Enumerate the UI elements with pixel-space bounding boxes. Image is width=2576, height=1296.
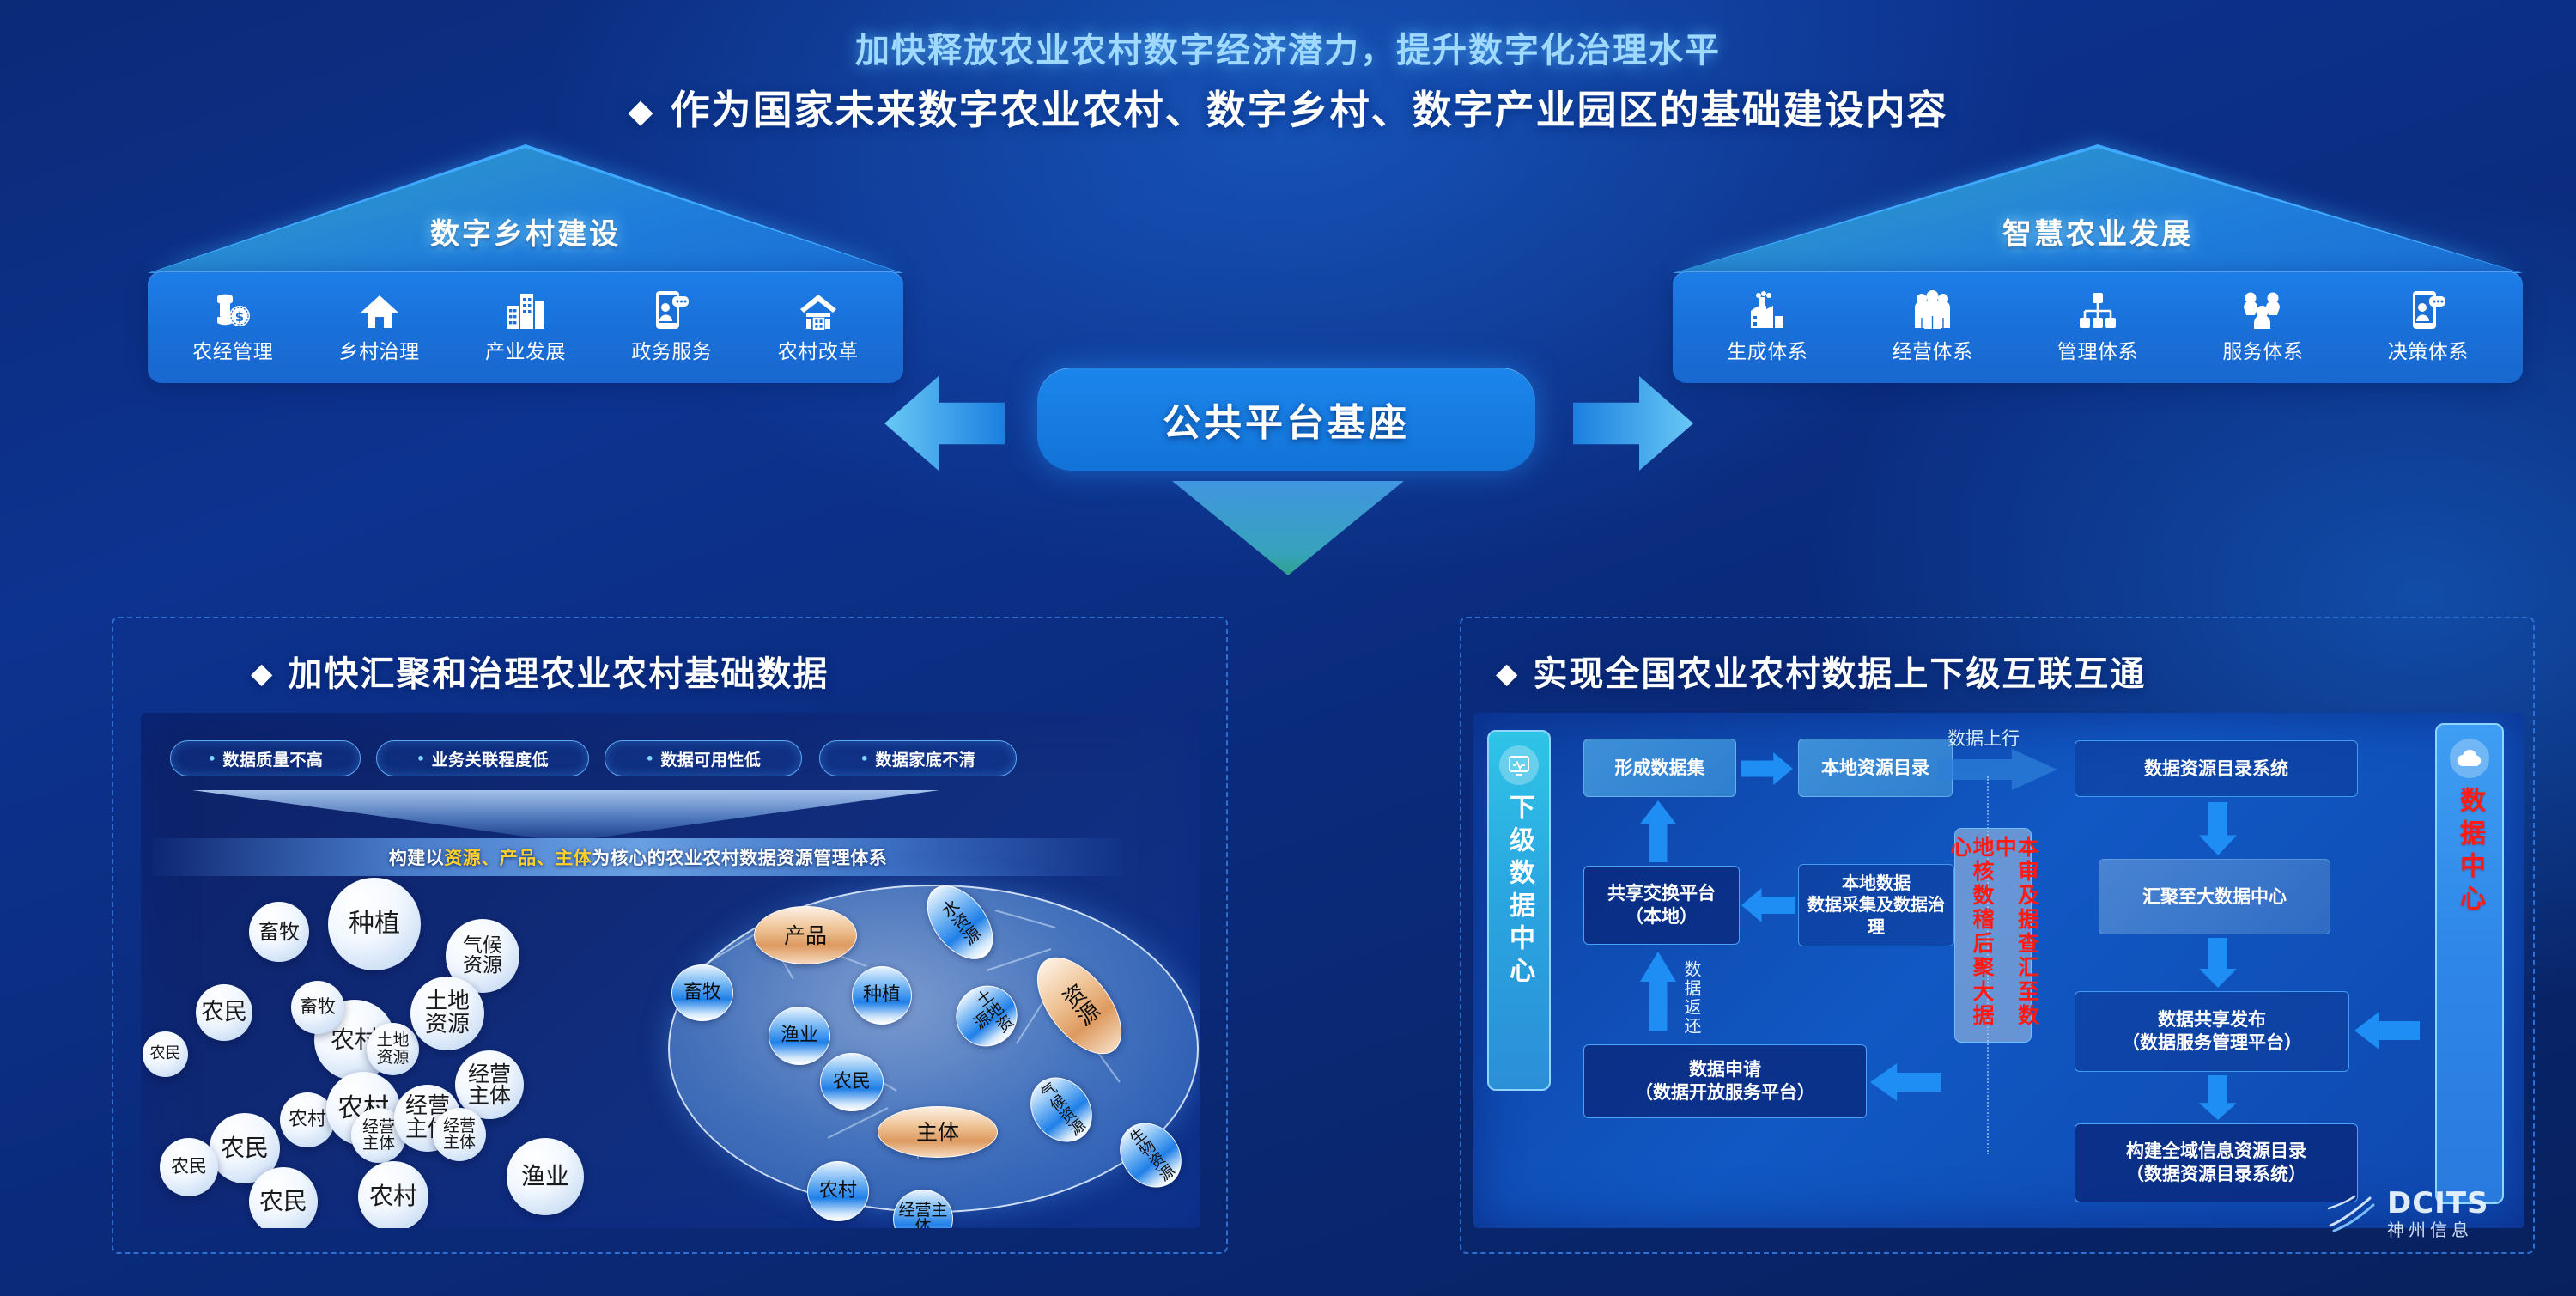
feature-政务服务[interactable]: 政务服务 (623, 290, 720, 364)
feature-乡村治理[interactable]: 乡村治理 (331, 290, 428, 364)
label-data-upstream: 数据上行 (1947, 725, 2020, 751)
data-node: 畜牧 (671, 964, 733, 1021)
box-data-apply[interactable]: 数据申请 （数据开放服务平台） (1583, 1044, 1867, 1118)
feature-管理体系[interactable]: 管理体系 (2050, 290, 2146, 364)
arrow-collect-to-share (1741, 888, 1795, 922)
dcits-swoosh-icon (2325, 1191, 2379, 1236)
box-gather-bigdata[interactable]: 汇聚至大数据中心 (2099, 859, 2330, 934)
funnel-shape (192, 790, 939, 840)
box-local-resource-dir[interactable]: 本地资源目录 (1798, 739, 1953, 797)
data-bubble: 农民 (160, 1138, 218, 1196)
dot-icon: • (416, 751, 426, 767)
left-panel-inner: •数据质量不高 •业务关联程度低 •数据可用性低 •数据家底不清 构建以资源、产… (141, 713, 1200, 1228)
cloud-icon (2450, 739, 2489, 778)
arrow-apply-to-share (1640, 952, 1676, 1031)
feature-经营体系[interactable]: 经营体系 (1885, 290, 1981, 364)
box-global-resource-dir[interactable]: 构建全域信息资源目录 （数据资源目录系统） (2075, 1123, 2358, 1202)
feature-label: 乡村治理 (339, 335, 420, 364)
right-house-card: 智慧农业发展 生成体系 (1673, 144, 2523, 383)
box-data-share-publish[interactable]: 数据共享发布 （数据服务管理平台） (2075, 991, 2349, 1072)
data-bubble: 农村 (358, 1161, 428, 1228)
core-banner: 构建以资源、产品、主体为核心的农业农村数据资源管理体系 (153, 838, 1123, 876)
feature-农村改革[interactable]: 农村改革 (770, 290, 866, 364)
page-title: 加快释放农业农村数字经济潜力，提升数字化治理水平 (0, 22, 2576, 72)
left-roof: 数字乡村建设 (148, 144, 903, 273)
feature-label: 决策体系 (2388, 335, 2469, 364)
diamond-bullet-icon: ◆ (251, 656, 274, 690)
feature-label: 服务体系 (2222, 335, 2303, 364)
feature-农经管理[interactable]: $ 农经管理 (185, 290, 281, 364)
feature-生成体系[interactable]: 生成体系 (1719, 290, 1815, 364)
org-chart-icon (2078, 290, 2117, 330)
right-panel-inner: 下级数据中心 数据中心 形成数据集 本地资源目录 共享交换平台 （本地） 本地数… (1473, 713, 2524, 1228)
data-node: 渔业 (769, 1007, 830, 1065)
left-panel-heading: ◆加快汇聚和治理农业农村基础数据 (251, 646, 829, 696)
arrow-dataset-to-dir (1741, 752, 1793, 785)
left-roof-label: 数字乡村建设 (148, 210, 903, 253)
feature-决策体系[interactable]: 决策体系 (2380, 290, 2476, 364)
core-node: 产品 (754, 906, 857, 964)
data-node: 农村 (807, 1161, 869, 1221)
monitor-pulse-icon (1499, 745, 1539, 785)
data-node: 农民 (820, 1053, 884, 1111)
dot-icon: • (646, 751, 655, 767)
brand-logo: DCITS 神州信息 (2325, 1189, 2489, 1238)
data-bubble: 农民 (143, 1031, 188, 1077)
data-bubble: 土地 资源 (367, 1023, 419, 1075)
data-bubble: 种植 (328, 878, 421, 970)
data-bubble: 畜牧 (291, 981, 344, 1034)
dot-icon: • (860, 751, 870, 767)
data-center-column[interactable]: 数据中心 (2435, 723, 2504, 1204)
data-node: 种植 (852, 966, 912, 1025)
feature-label: 经营体系 (1893, 335, 1973, 364)
arrow-center-to-apply (1870, 1063, 1941, 1101)
right-panel-heading-text: 实现全国农业农村数据上下级互联互通 (1533, 654, 2146, 694)
people-group-icon (1912, 290, 1953, 330)
house-icon (360, 290, 399, 330)
red-note-col-1: 地核数稽后聚大据心 (1948, 836, 1994, 1035)
box-local-data-collect[interactable]: 本地数据 数据采集及数据治理 (1798, 864, 1954, 946)
lower-data-center-label: 下级数据中心 (1500, 794, 1538, 989)
service-people-icon (2242, 290, 2283, 330)
right-roof: 智慧农业发展 (1673, 144, 2523, 273)
logo-text: DCITS 神州信息 (2387, 1189, 2489, 1238)
data-bubble: 农民 (249, 1167, 318, 1228)
feature-label: 政务服务 (631, 335, 712, 364)
diamond-bullet-icon: ◆ (1496, 656, 1519, 690)
data-bubble: 农民 (196, 984, 252, 1041)
logo-cn: 神州信息 (2387, 1221, 2489, 1238)
box-resource-dir-system[interactable]: 数据资源目录系统 (2075, 740, 2358, 797)
right-panel-heading: ◆实现全国农业农村数据上下级互联互通 (1496, 646, 2146, 696)
logo-en: DCITS (2387, 1189, 2489, 1218)
page-subtitle: ◆作为国家未来数字农业农村、数字乡村、数字产业园区的基础建设内容 (0, 79, 2576, 136)
svg-text:$: $ (235, 309, 244, 325)
arrow-down (1172, 481, 1404, 575)
red-note-col-2: 本审及据查汇至数中 (1993, 836, 2038, 1035)
box-form-dataset[interactable]: 形成数据集 (1583, 739, 1736, 797)
arrow-to-left (884, 376, 1005, 471)
center-platform-pill[interactable]: 公共平台基座 (1037, 368, 1535, 471)
arrow-gather-to-publish (2199, 938, 2237, 988)
right-feature-row: 生成体系 经营体系 (1673, 271, 2523, 383)
problem-pill[interactable]: •数据质量不高 (170, 740, 361, 776)
feature-产业发展[interactable]: 产业发展 (477, 290, 574, 364)
problem-pill[interactable]: •业务关联程度低 (376, 740, 589, 776)
problem-pill[interactable]: •数据家底不清 (819, 740, 1017, 776)
data-bubble: 土地 资源 (410, 977, 484, 1050)
problem-pill[interactable]: •数据可用性低 (605, 740, 802, 776)
mobile-decision-icon (2409, 290, 2447, 330)
buildings-icon (505, 290, 546, 330)
arrow-to-right (1573, 376, 1693, 471)
box-share-exchange[interactable]: 共享交换平台 （本地） (1583, 866, 1740, 945)
data-bubble: 畜牧 (249, 902, 309, 962)
slide-canvas: 加快释放农业农村数字经济潜力，提升数字化治理水平 ◆作为国家未来数字农业农村、数… (0, 0, 2576, 1296)
left-panel-heading-text: 加快汇聚和治理农业农村基础数据 (288, 654, 829, 694)
arrow-data-upstream (1937, 749, 2057, 790)
coins-money-icon: $ (212, 290, 253, 330)
feature-label: 生成体系 (1727, 335, 1807, 364)
right-roof-label: 智慧农业发展 (1673, 210, 2523, 253)
lower-data-center-column[interactable]: 下级数据中心 (1487, 730, 1551, 1091)
diamond-bullet-icon: ◆ (628, 92, 654, 130)
red-note-box: 地核数稽后聚大据心 本审及据查汇至数中 (1954, 828, 2032, 1043)
dot-icon: • (208, 751, 217, 767)
arrow-share-to-dataset (1640, 800, 1676, 862)
feature-label: 农经管理 (192, 335, 273, 364)
arrow-dir-to-gather (2199, 802, 2237, 855)
feature-label: 农村改革 (778, 335, 859, 364)
core-node: 主体 (878, 1106, 998, 1158)
rural-home-icon (799, 290, 838, 330)
mobile-service-icon (653, 290, 690, 330)
left-feature-row: $ 农经管理 乡村治理 (148, 271, 903, 383)
arrow-publish-to-global (2199, 1075, 2237, 1120)
feature-label: 管理体系 (2057, 335, 2138, 364)
data-center-label: 数据中心 (2451, 787, 2488, 917)
arrow-center-to-publish (2354, 1012, 2420, 1050)
label-data-return: 数据返还 (1680, 960, 1704, 1036)
feature-服务体系[interactable]: 服务体系 (2215, 290, 2311, 364)
left-house-card: 数字乡村建设 $ 农经管理 (148, 144, 903, 383)
organized-data-ellipse (668, 885, 1199, 1213)
data-bubble: 渔业 (507, 1138, 584, 1215)
feature-label: 产业发展 (485, 335, 566, 364)
page-subtitle-text: 作为国家未来数字农业农村、数字乡村、数字产业园区的基础建设内容 (671, 87, 1948, 133)
data-bubble: 经营 主体 (433, 1108, 486, 1161)
factory-icon (1747, 290, 1787, 330)
